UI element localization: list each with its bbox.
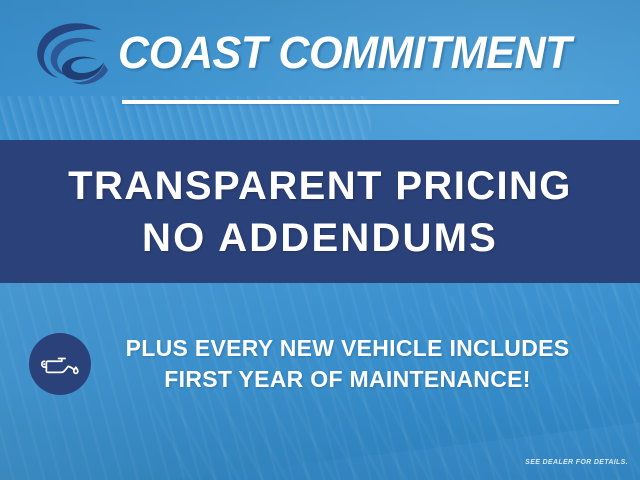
oil-can-icon [29,333,91,395]
headline-line-2: NO ADDENDUMS [142,212,498,264]
headline-line-1: TRANSPARENT PRICING [68,160,572,212]
headline-band: TRANSPARENT PRICING NO ADDENDUMS [0,140,640,283]
disclaimer-text: SEE DEALER FOR DETAILS. [525,458,628,468]
promo-line-1: PLUS EVERY NEW VEHICLE INCLUDES [97,333,598,364]
header-divider [122,100,619,104]
banner-header: COAST COMMITMENT [0,0,640,140]
page-title: COAST COMMITMENT [118,24,610,82]
promo-text-block: PLUS EVERY NEW VEHICLE INCLUDES FIRST YE… [91,333,640,395]
promo-line-2: FIRST YEAR OF MAINTENANCE! [97,364,598,395]
coast-wave-logo-icon [24,16,116,96]
coast-commitment-banner: COAST COMMITMENT TRANSPARENT PRICING NO … [0,0,640,480]
promo-row: PLUS EVERY NEW VEHICLE INCLUDES FIRST YE… [0,326,640,402]
